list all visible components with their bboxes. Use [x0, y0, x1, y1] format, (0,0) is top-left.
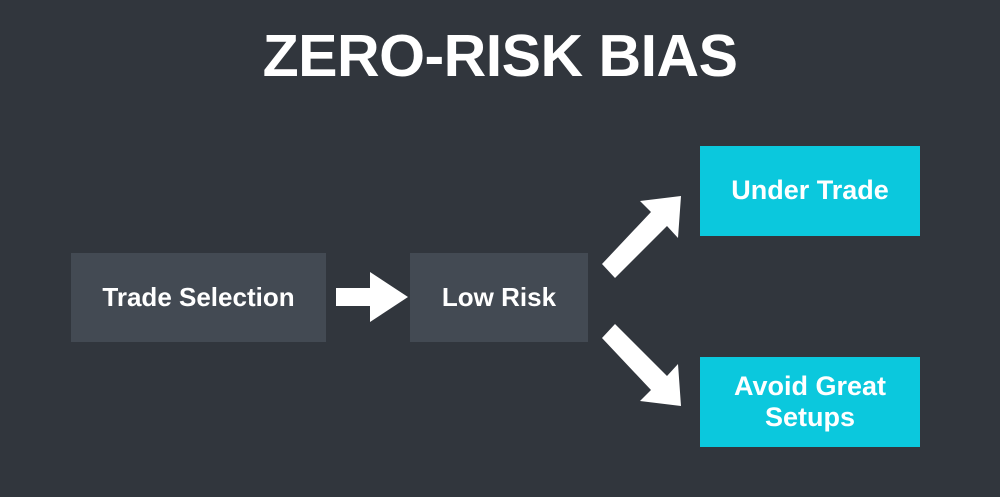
page-title: ZERO-RISK BIAS	[0, 26, 1000, 88]
node-trade-selection-label: Trade Selection	[94, 283, 302, 313]
arrow-down-right-shape	[602, 324, 681, 406]
node-trade-selection[interactable]: Trade Selection	[71, 253, 326, 342]
arrow-down-right-icon	[596, 320, 688, 410]
arrow-up-right-icon	[596, 192, 688, 282]
node-low-risk-label: Low Risk	[434, 283, 564, 313]
arrow-right-icon	[336, 270, 408, 324]
arrow-up-right-shape	[602, 196, 681, 278]
node-avoid-great-setups[interactable]: Avoid Great Setups	[700, 357, 920, 447]
diagram-canvas: ZERO-RISK BIAS Trade Selection Low Risk …	[0, 0, 1000, 497]
node-under-trade-label: Under Trade	[723, 175, 897, 206]
arrow-right-shape	[336, 272, 408, 322]
node-low-risk[interactable]: Low Risk	[410, 253, 588, 342]
node-under-trade[interactable]: Under Trade	[700, 146, 920, 236]
node-avoid-great-setups-label: Avoid Great Setups	[700, 371, 920, 433]
